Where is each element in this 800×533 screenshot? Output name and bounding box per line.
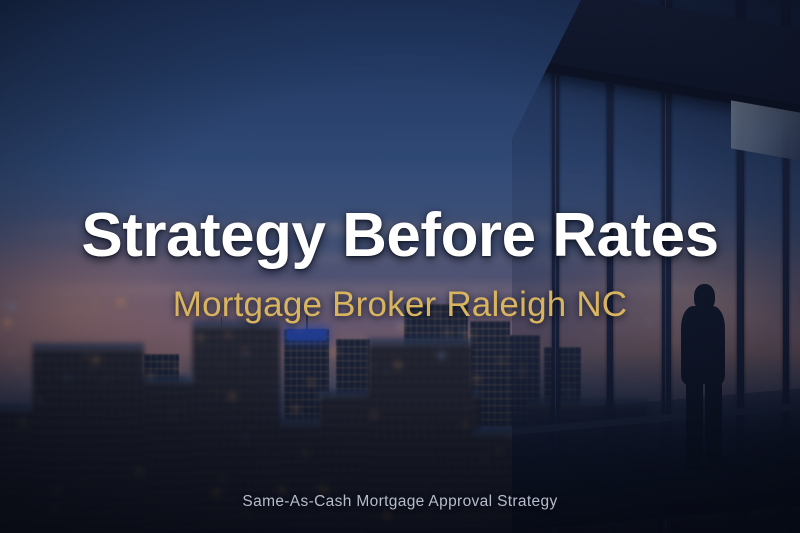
hero-banner: Strategy Before Rates Mortgage Broker Ra…	[0, 0, 800, 533]
caption: Same-As-Cash Mortgage Approval Strategy	[0, 493, 800, 511]
headline: Strategy Before Rates	[0, 203, 800, 269]
subheadline: Mortgage Broker Raleigh NC	[0, 286, 800, 325]
text-overlay: Strategy Before Rates Mortgage Broker Ra…	[0, 0, 800, 533]
